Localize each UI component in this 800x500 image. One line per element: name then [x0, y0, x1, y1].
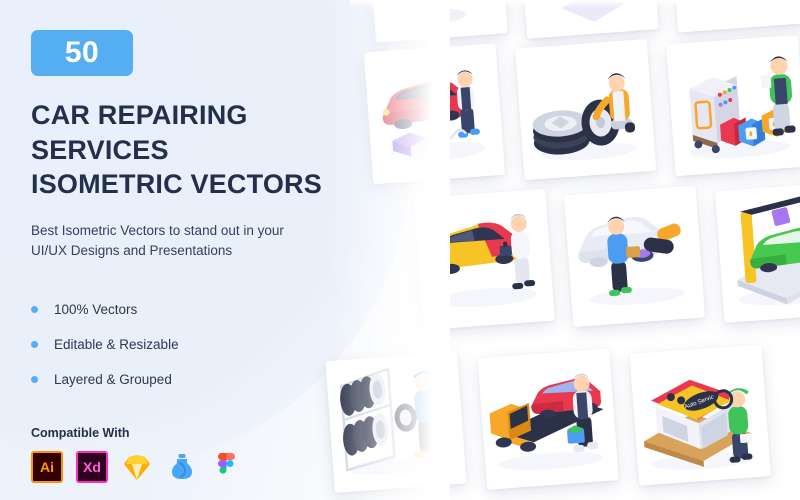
gallery-card-tow-truck[interactable]: [477, 349, 618, 490]
illustrator-icon: Ai: [31, 451, 63, 483]
feature-list: 100% Vectors Editable & Resizable Layere…: [31, 292, 361, 397]
art-service-cart-with-oil-cans: [666, 35, 800, 176]
feature-label: 100% Vectors: [54, 302, 137, 317]
gallery-card-top-2[interactable]: [518, 0, 659, 39]
gallery-card-auto-service-shop[interactable]: Auto Service: [630, 344, 771, 485]
left-panel: 50 CAR REPAIRING SERVICES ISOMETRIC VECT…: [31, 0, 361, 500]
art-car-body-with-robotic-polisher: [564, 186, 705, 327]
gallery-card-car-lift[interactable]: [715, 182, 800, 323]
art-person-on-platform-partial: [518, 0, 659, 39]
adobe-xd-icon: Xd: [76, 451, 108, 483]
gallery-card-body-repair[interactable]: [564, 186, 705, 327]
art-tow-truck-carrying-red-car: [477, 349, 618, 490]
page-title: CAR REPAIRING SERVICES ISOMETRIC VECTORS: [31, 98, 361, 202]
page-title-line2: ISOMETRIC VECTORS: [31, 167, 361, 202]
art-mechanic-rolling-tire: [515, 39, 656, 180]
compatible-apps-row: Ai Xd: [31, 451, 361, 483]
gallery-card-tire-change[interactable]: [515, 39, 656, 180]
list-item: Layered & Grouped: [31, 362, 361, 397]
invision-icon: [166, 451, 198, 483]
feature-label: Editable & Resizable: [54, 337, 179, 352]
illustrator-icon-label: Ai: [40, 460, 54, 474]
count-badge: 50: [31, 30, 133, 76]
list-item: 100% Vectors: [31, 292, 361, 327]
sketch-icon: [121, 451, 153, 483]
compatible-with-label: Compatible With: [31, 426, 361, 440]
figma-icon: [211, 451, 243, 483]
page-subtitle: Best Isometric Vectors to stand out in y…: [31, 221, 316, 262]
bullet-dot-icon: [31, 376, 38, 383]
list-item: Editable & Resizable: [31, 327, 361, 362]
gallery-card-fluid-cart[interactable]: [666, 35, 800, 176]
art-green-car-on-hydraulic-lift: [715, 182, 800, 323]
art-auto-service-storefront: Auto Service: [630, 344, 771, 485]
adobe-xd-icon-label: Xd: [83, 460, 101, 474]
bullet-dot-icon: [31, 306, 38, 313]
art-mechanic-with-tool-partial: [669, 0, 800, 33]
gallery-card-top-3[interactable]: [669, 0, 800, 33]
poster-root: Auto Service: [0, 0, 800, 500]
bullet-dot-icon: [31, 341, 38, 348]
feature-label: Layered & Grouped: [54, 372, 172, 387]
page-title-line1: CAR REPAIRING SERVICES: [31, 100, 248, 165]
